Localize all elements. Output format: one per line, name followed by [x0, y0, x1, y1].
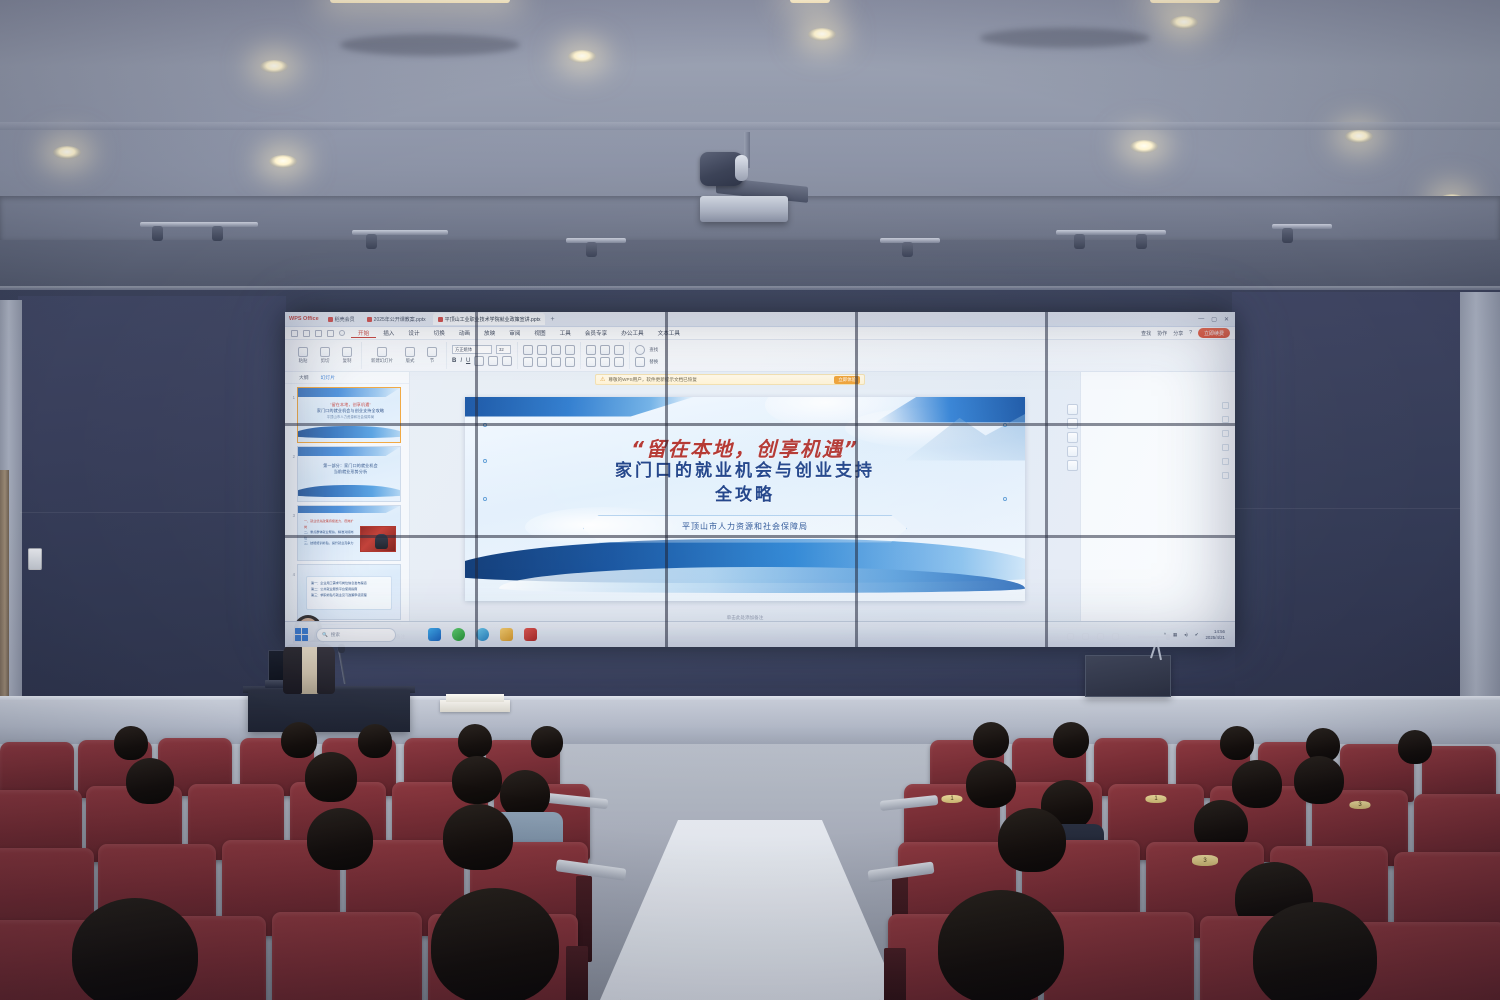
led-video-wall[interactable]: WPS Office 稻壳会员 2025年公开课教案.pptx 平顶山工业职业技… [285, 312, 1235, 647]
downlight [1345, 130, 1373, 143]
comments-icon[interactable] [1222, 444, 1229, 451]
text-shadow-icon[interactable] [474, 356, 484, 366]
ceiling-slot [340, 34, 520, 56]
audience-member [420, 888, 570, 1000]
thumbnail-slide-3[interactable]: 一、就业优先政策持续发力，稳岗扩岗 二、重点群体就业帮扶，精准对接岗位 三、技能… [297, 505, 401, 561]
thumb-title-line1: "留在本地，创享机遇" [330, 402, 371, 407]
taskbar-search-input[interactable]: 🔍 搜索 [316, 628, 396, 642]
track-light-fixture [352, 230, 448, 250]
update-notice-bar: ⚠ 尊敬的WPS用户，软件更新提示文档已恢复 立即体验 [595, 374, 865, 385]
thumb-subtitle: 平顶山市人力资源和社会保障局 [327, 415, 374, 419]
clock-date: 2025/4/21 [1205, 635, 1225, 641]
arrange-icon[interactable] [600, 345, 610, 355]
ceiling-projector [700, 196, 788, 222]
lecture-hall-scene: WPS Office 稻壳会员 2025年公开课教案.pptx 平顶山工业职业技… [0, 0, 1500, 1000]
slide-banner-left [465, 397, 695, 417]
start-icon[interactable] [295, 628, 308, 641]
wps-icon[interactable] [524, 628, 537, 641]
ceiling-strip-light [790, 0, 830, 3]
downlight [53, 146, 81, 159]
menu-tab-review[interactable]: 审阅 [502, 329, 527, 337]
menu-tab-office-tools[interactable]: 办公工具 [614, 329, 650, 337]
close-icon[interactable]: ✕ [1224, 316, 1229, 323]
titlebar-tab-0[interactable]: 稻壳会员 [323, 313, 360, 325]
audience-member [524, 726, 570, 766]
wps-logo-icon: WPS Office [289, 316, 319, 322]
search-placeholder: 搜索 [331, 632, 340, 638]
copy-label: 复制 [343, 358, 352, 364]
minimize-icon[interactable]: — [1198, 316, 1204, 323]
chevron-up-icon[interactable]: ^ [1164, 632, 1166, 637]
font-size-select[interactable]: 32 [496, 345, 511, 354]
copy-icon [342, 347, 352, 357]
wall-panel [18, 296, 286, 740]
camera-lens-icon [735, 155, 748, 181]
menubar-right-actions: 查找 协作 分享 ? 立即续费 [1141, 328, 1235, 338]
titlebar-tab-label: 平顶山工业职业技术学院就业政策宣讲.pptx [445, 316, 541, 323]
quick-style-icon[interactable] [614, 345, 624, 355]
ceiling-slot [980, 28, 1150, 48]
audience-member [120, 758, 180, 818]
layout-label: 版式 [406, 358, 415, 364]
layout-button[interactable]: 版式 [401, 347, 419, 364]
cut-label: 剪切 [321, 358, 330, 364]
dandelion-icon [328, 317, 333, 322]
thumb-bullet: 第二：公共就业服务平台使用指南 [311, 587, 357, 591]
wps-presentation-window[interactable]: WPS Office 稻壳会员 2025年公开课教案.pptx 平顶山工业职业技… [285, 312, 1235, 647]
browser-icon[interactable] [476, 628, 489, 641]
audience-member [990, 808, 1074, 896]
outline-icon[interactable] [600, 357, 610, 367]
section-icon [427, 347, 437, 357]
ribbon-group-slides: 新建幻灯片 版式 节 [362, 342, 447, 369]
slide-subtitle[interactable]: 家门口的就业机会与创业支持 全攻略 [465, 459, 1025, 508]
folder-icon[interactable] [500, 628, 513, 641]
menu-tab-design[interactable]: 设计 [401, 329, 426, 337]
resize-handle[interactable] [483, 497, 487, 501]
wechat-icon[interactable] [452, 628, 465, 641]
thumbnail-row[interactable]: 4 第一：企业用工需求与岗位信息发布渠道 第二：公共就业服务平台使用指南 第三：… [285, 561, 409, 620]
design-idea-icon[interactable] [1067, 418, 1078, 429]
audience-member [1288, 756, 1350, 818]
replace-icon[interactable] [635, 357, 645, 367]
edge-icon[interactable] [428, 628, 441, 641]
thumb-bullet: 二、重点群体就业帮扶，精准对接岗位 [304, 530, 354, 540]
track-light-fixture [880, 238, 940, 258]
menu-tab-transition[interactable]: 切换 [427, 329, 452, 337]
align-right-icon[interactable] [551, 357, 561, 367]
dropdown-icon[interactable] [339, 330, 345, 336]
thumb-bullet: 第一：企业用工需求与岗位信息发布渠道 [311, 581, 367, 585]
audience-member [926, 890, 1076, 1000]
security-icon[interactable]: ✔ [1195, 632, 1199, 638]
audience-member [436, 804, 520, 894]
current-slide[interactable]: “留在本地，创享机遇” 家门口的就业机会与创业支持 全攻略 平顶山市人力资源和社… [465, 397, 1025, 601]
downlight [568, 50, 596, 63]
downlight [1170, 16, 1198, 29]
undo-icon[interactable] [315, 330, 322, 337]
track-light-fixture [140, 222, 258, 242]
italic-button[interactable]: I [460, 358, 462, 364]
audience-member [300, 752, 362, 816]
ceiling-strip-light [1150, 0, 1220, 3]
seat-number-plate: 1 [1145, 795, 1166, 803]
search-icon[interactable]: 查找 [1141, 330, 1151, 337]
slide-editing-stage[interactable]: “留在本地，创享机遇” 家门口的就业机会与创业支持 全攻略 平顶山市人力资源和社… [410, 372, 1080, 625]
new-slide-icon [377, 347, 387, 357]
text-box-icon[interactable] [1067, 460, 1078, 471]
print-icon[interactable] [303, 330, 310, 337]
taskbar-system-tray[interactable]: ^ ▦ ◂) ✔ 14:56 2025/4/21 [1164, 629, 1225, 640]
ppt-icon [367, 317, 372, 322]
thumbnail-row[interactable]: 1 "留在本地，创享机遇" 家门口的就业机会与创业支持全攻略 平顶山市人力资源和… [285, 384, 409, 443]
slide-subtitle-line2: 全攻略 [715, 485, 775, 505]
outline-tab[interactable]: 大纲 [299, 374, 309, 381]
quick-access-toolbar [285, 330, 351, 337]
menu-tab-animation[interactable]: 动画 [452, 329, 477, 337]
thumbnail-slide-2[interactable]: 第一部分：家门口的就业机会 当前就业形势分析 [297, 446, 401, 502]
seat-number-plate: 3 [1349, 801, 1370, 809]
audience-member [60, 898, 210, 1000]
animation-pane-icon[interactable] [1222, 416, 1229, 423]
menu-tab-member[interactable]: 会员专享 [578, 329, 614, 337]
thumbnail-number: 3 [288, 505, 295, 518]
resize-handle[interactable] [483, 423, 487, 427]
share-button[interactable]: 分享 [1173, 330, 1183, 337]
help-icon[interactable]: ? [1189, 330, 1192, 336]
titlebar-tab-label: 稻壳会员 [335, 316, 355, 323]
chart-icon[interactable] [1067, 446, 1078, 457]
wall-column-right [1460, 292, 1500, 742]
notice-text: 尊敬的WPS用户，软件更新提示文档已恢复 [608, 377, 697, 383]
ribbon-group-clipboard: 粘贴 剪切 复制 [289, 342, 362, 369]
template-icon[interactable] [1222, 472, 1229, 479]
redo-icon[interactable] [327, 330, 334, 337]
audience-member [300, 808, 380, 888]
downlight [1130, 140, 1158, 153]
ppt-icon [438, 317, 443, 322]
audience-member [1392, 730, 1438, 770]
image-icon[interactable] [1067, 432, 1078, 443]
maximize-icon[interactable]: ▢ [1211, 316, 1217, 323]
bold-button[interactable]: B [452, 358, 456, 364]
network-icon[interactable]: ▦ [1173, 632, 1177, 638]
window-controls: — ▢ ✕ [1198, 316, 1235, 323]
layout-icon [405, 347, 415, 357]
ceiling-strip-light [330, 0, 510, 3]
align-left-icon[interactable] [523, 357, 533, 367]
taskbar-pinned-apps[interactable] [428, 628, 537, 641]
slide-thumbnails-panel[interactable]: 大纲 幻灯片 1 "留在本地，创享机遇" 家门口的就业机会与创业支持全攻略 平顶… [285, 372, 410, 625]
new-slide-button[interactable]: 新建幻灯片 [367, 347, 397, 364]
thumb-title-line1: 第一部分：家门口的就业机会 [323, 463, 378, 468]
search-icon[interactable] [635, 345, 645, 355]
cut-button[interactable]: 剪切 [316, 347, 334, 364]
new-slide-label: 新建幻灯片 [371, 358, 393, 364]
section-label: 节 [430, 358, 434, 364]
selection-pane-icon[interactable] [1222, 430, 1229, 437]
bullets-icon[interactable] [523, 345, 533, 355]
collaborate-button[interactable]: 协作 [1157, 330, 1167, 337]
thumbnail-row[interactable]: 2 第一部分：家门口的就业机会 当前就业形势分析 [285, 443, 409, 502]
downlight [260, 60, 288, 73]
search-icon: 🔍 [322, 632, 328, 638]
wps-titlebar: WPS Office 稻壳会员 2025年公开课教案.pptx 平顶山工业职业技… [285, 312, 1235, 327]
thumb-photo [360, 526, 396, 552]
notice-action-button[interactable]: 立即体验 [834, 376, 860, 384]
ribbon-group-paragraph [518, 342, 581, 369]
thumbnail-number: 4 [288, 564, 295, 577]
wall-panel [1232, 292, 1460, 742]
titlebar-tab-1[interactable]: 2025年公开课教案.pptx [362, 313, 431, 325]
thumbnail-row[interactable]: 3 一、就业优先政策持续发力，稳岗扩岗 二、重点群体就业帮扶，精准对接岗位 三、… [285, 502, 409, 561]
wps-menubar: 开始 插入 设计 切换 动画 放映 审阅 视图 工具 会员专享 办公工具 文本工… [285, 327, 1235, 340]
menu-tab-slideshow[interactable]: 放映 [477, 329, 502, 337]
font-color-icon[interactable] [502, 356, 512, 366]
windows-taskbar[interactable]: 🔍 搜索 ^ ▦ ◂) ✔ 14:56 202 [285, 621, 1235, 647]
thumbnail-slide-4[interactable]: 第一：企业用工需求与岗位信息发布渠道 第二：公共就业服务平台使用指南 第三：求职… [297, 564, 401, 620]
strikethrough-icon[interactable] [488, 356, 498, 366]
resize-handle[interactable] [483, 459, 487, 463]
thumb-bullet: 一、就业优先政策持续发力，稳岗扩岗 [304, 519, 354, 529]
slide-subtitle-line1: 家门口的就业机会与创业支持 [615, 461, 875, 481]
stack-of-documents-top [446, 694, 504, 702]
numbering-icon[interactable] [537, 345, 547, 355]
menu-tab-insert[interactable]: 插入 [376, 329, 401, 337]
seat-side-panel [884, 948, 906, 1000]
indent-increase-icon[interactable] [565, 345, 575, 355]
paste-label: 粘贴 [299, 358, 308, 364]
downlight [269, 155, 297, 168]
shapes-icon[interactable] [586, 345, 596, 355]
fill-icon[interactable] [586, 357, 596, 367]
seat-number-plate: 3 [1192, 855, 1218, 866]
thumb-bullet: 第三：求职补贴与就业见习政策申领流程 [311, 593, 367, 597]
thumb-title-line2: 当前就业形势分析 [334, 469, 368, 474]
copy-button[interactable]: 复制 [338, 347, 356, 364]
underline-button[interactable]: U [466, 358, 470, 364]
stage-av-equipment [1085, 655, 1171, 697]
effects-icon[interactable] [614, 357, 624, 367]
downlight [808, 28, 836, 41]
audience-member [1048, 722, 1094, 766]
paste-button[interactable]: 粘贴 [294, 347, 312, 364]
thumb-bullet: 三、技能培训补贴，提升就业竞争力 [304, 541, 354, 545]
resource-icon[interactable] [1222, 458, 1229, 465]
save-icon[interactable] [291, 330, 298, 337]
indent-decrease-icon[interactable] [551, 345, 561, 355]
track-light-fixture [1272, 224, 1332, 244]
scissors-icon [320, 347, 330, 357]
warning-icon: ⚠ [600, 376, 605, 383]
thumbnail-number: 2 [288, 446, 295, 459]
renew-membership-button[interactable]: 立即续费 [1198, 328, 1230, 338]
task-pane-icons[interactable] [1222, 402, 1229, 479]
titlebar-tab-2[interactable]: 平顶山工业职业技术学院就业政策宣讲.pptx [433, 313, 546, 325]
paste-icon [298, 347, 308, 357]
font-name-select[interactable]: 方正姚体 [452, 345, 492, 354]
titlebar-tab-label: 2025年公开课教案.pptx [374, 316, 426, 323]
smart-layout-icon[interactable] [1067, 404, 1078, 415]
light-switch[interactable] [28, 548, 42, 570]
section-button[interactable]: 节 [423, 347, 441, 364]
thumbnail-number: 1 [288, 387, 295, 400]
ribbon-group-font: 方正姚体 32 B I U [447, 342, 518, 369]
wps-ribbon: 粘贴 剪切 复制 [285, 340, 1235, 372]
ribbon-group-drawing [581, 342, 630, 369]
wall-trim [0, 286, 1500, 290]
menu-tab-start[interactable]: 开始 [351, 329, 376, 338]
replace-label: 替换 [649, 359, 658, 365]
properties-icon[interactable] [1222, 402, 1229, 409]
slide-organization[interactable]: 平顶山市人力资源和社会保障局 [465, 521, 1025, 532]
menu-tab-text-tools[interactable]: 文本工具 [651, 329, 687, 337]
thumbnails-header: 大纲 幻灯片 [285, 372, 409, 384]
floating-tool-strip[interactable] [1067, 404, 1080, 471]
taskbar-clock[interactable]: 14:56 2025/4/21 [1205, 629, 1225, 640]
door-frame-left [0, 470, 9, 710]
right-task-pane[interactable] [1080, 372, 1235, 625]
slide-title-quote[interactable]: “留在本地，创享机遇” [465, 433, 1025, 462]
track-light-fixture [1056, 230, 1166, 250]
menu-tab-tools[interactable]: 工具 [553, 329, 578, 337]
thumb-title-line2: 家门口的就业机会与创业支持全攻略 [317, 408, 384, 413]
line-spacing-icon[interactable] [565, 357, 575, 367]
ribbon-group-editing: 查找 替换 [630, 342, 663, 369]
slides-tab[interactable]: 幻灯片 [321, 374, 335, 381]
find-label: 查找 [649, 347, 658, 353]
track-light-fixture [566, 238, 626, 258]
align-center-icon[interactable] [537, 357, 547, 367]
new-tab-button[interactable]: + [550, 316, 554, 323]
volume-icon[interactable]: ◂) [1184, 632, 1188, 638]
audience-member [1240, 902, 1390, 1000]
resize-handle[interactable] [1003, 423, 1007, 427]
resize-handle[interactable] [1003, 497, 1007, 501]
thumbnail-slide-1[interactable]: "留在本地，创享机遇" 家门口的就业机会与创业支持全攻略 平顶山市人力资源和社会… [297, 387, 401, 443]
menu-tab-view[interactable]: 视图 [527, 329, 552, 337]
